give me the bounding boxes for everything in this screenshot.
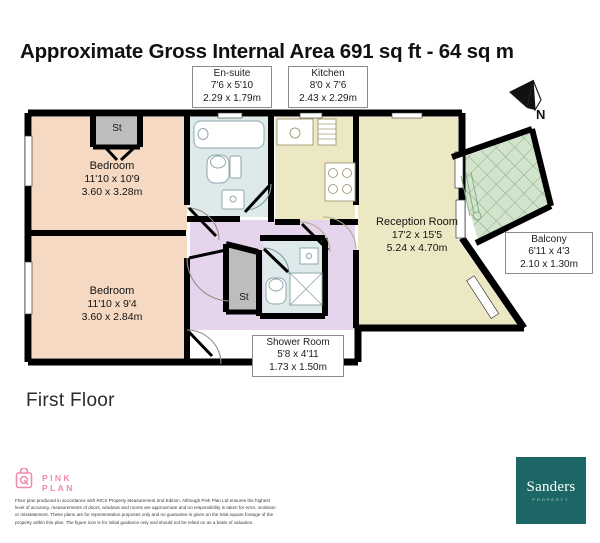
callout-dims-metric: 1.73 x 1.50m: [257, 362, 339, 374]
callout-dims-metric: 2.29 x 1.79m: [197, 93, 267, 105]
room-dims-imperial: 17'2 x 15'5: [352, 229, 482, 242]
callout-dims-imperial: 8'0 x 7'6: [293, 80, 363, 92]
pink-plan-brand-name: PINK PLAN: [42, 473, 75, 493]
callout-ensuite: En-suite 7'6 x 5'10 2.29 x 1.79m: [192, 66, 272, 108]
room-label-reception: Reception Room 17'2 x 15'5 5.24 x 4.70m: [352, 216, 482, 255]
room-name: Bedroom: [42, 285, 182, 298]
callout-dims-metric: 2.43 x 2.29m: [293, 93, 363, 105]
compass-north-arrow-icon: [505, 78, 561, 118]
callout-kitchen: Kitchen 8'0 x 7'6 2.43 x 2.29m: [288, 66, 368, 108]
callout-name: Balcony: [510, 234, 588, 246]
agent-logo-name: Sanders: [516, 479, 586, 496]
room-name: Reception Room: [352, 216, 482, 229]
agent-logo: Sanders PROPERTY: [516, 457, 586, 524]
room-label-bedroom2: Bedroom 11'10 x 9'4 3.60 x 2.84m: [42, 285, 182, 324]
callout-dims-imperial: 5'8 x 4'11: [257, 349, 339, 361]
callout-balcony: Balcony 6'11 x 4'3 2.10 x 1.30m: [505, 232, 593, 274]
callout-name: En-suite: [197, 68, 267, 80]
pink-plan-logo-icon: [14, 468, 34, 489]
room-dims-metric: 3.60 x 3.28m: [42, 186, 182, 199]
compass: N: [505, 78, 561, 130]
callout-name: Kitchen: [293, 68, 363, 80]
floorplan-page: Approximate Gross Internal Area 691 sq f…: [0, 0, 600, 543]
callout-dims-imperial: 7'6 x 5'10: [197, 80, 267, 92]
storage-label-2: St: [230, 292, 258, 303]
room-dims-metric: 5.24 x 4.70m: [352, 242, 482, 255]
callout-dims-metric: 2.10 x 1.30m: [510, 259, 588, 271]
callout-name: Shower Room: [257, 337, 339, 349]
storage-label-1: St: [97, 123, 137, 134]
room-label-bedroom1: Bedroom 11'10 x 10'9 3.60 x 3.28m: [42, 160, 182, 199]
room-dims-imperial: 11'10 x 10'9: [42, 173, 182, 186]
room-name: Bedroom: [42, 160, 182, 173]
agent-logo-subtitle: PROPERTY: [516, 497, 586, 502]
room-dims-imperial: 11'10 x 9'4: [42, 298, 182, 311]
compass-north-label: N: [536, 107, 545, 122]
callout-dims-imperial: 6'11 x 4'3: [510, 246, 588, 258]
room-dims-metric: 3.60 x 2.84m: [42, 311, 182, 324]
callout-shower-room: Shower Room 5'8 x 4'11 1.73 x 1.50m: [252, 335, 344, 377]
